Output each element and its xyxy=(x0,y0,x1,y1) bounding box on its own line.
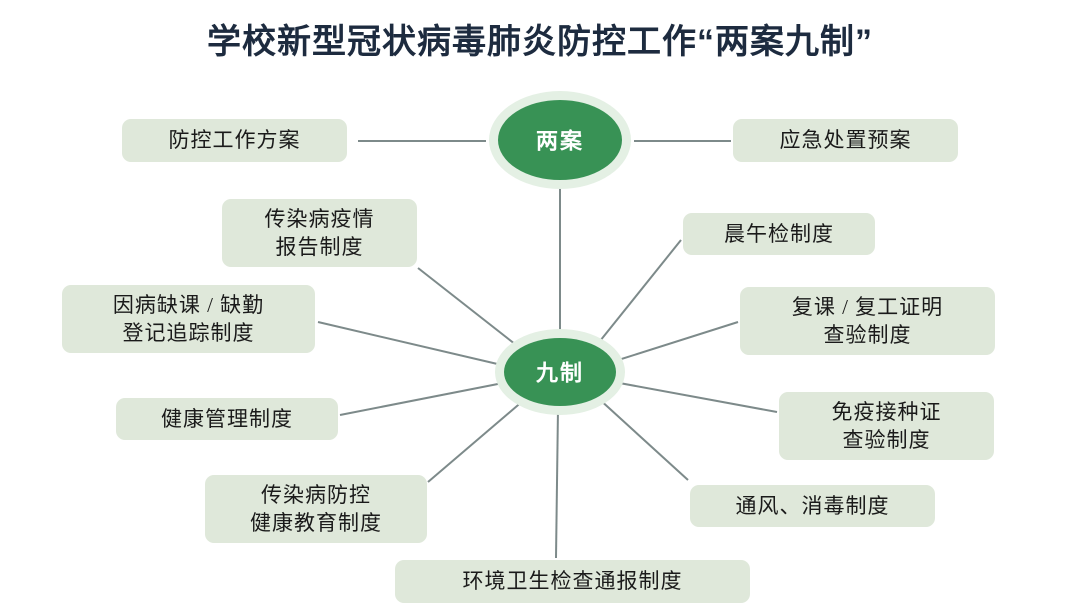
connector-line xyxy=(556,408,558,558)
connector-line xyxy=(614,382,777,412)
connector-line xyxy=(340,382,508,415)
radial-diagram: 两案九制 防控工作方案应急处置预案传染病疫情 报告制度因病缺课 / 缺勤 登记追… xyxy=(0,0,1080,611)
leaf-node-yingji-chuzhi-yuan[interactable]: 应急处置预案 xyxy=(733,119,958,162)
connector-line xyxy=(596,240,681,346)
leaf-node-huanjing-weisheng-tongbao[interactable]: 环境卫生检查通报制度 xyxy=(395,560,750,603)
leaf-node-mianyi-jiezhongzheng-chayan[interactable]: 免疫接种证 查验制度 xyxy=(779,392,994,460)
leaf-node-chuanranbing-yiqing-baogao[interactable]: 传染病疫情 报告制度 xyxy=(222,199,417,267)
connector-line xyxy=(598,398,688,480)
leaf-node-fuke-fugong-zhengming[interactable]: 复课 / 复工证明 查验制度 xyxy=(740,287,995,355)
hub-node-liangan[interactable]: 两案 xyxy=(489,91,631,189)
hub-node-jiuzhi[interactable]: 九制 xyxy=(495,329,625,415)
hub-label: 两案 xyxy=(536,129,584,154)
leaf-node-chuanranbing-fangkong-jiaoyu[interactable]: 传染病防控 健康教育制度 xyxy=(205,475,427,543)
leaf-node-tongfeng-xiaodu[interactable]: 通风、消毒制度 xyxy=(690,485,935,527)
leaf-node-fangkong-gongzuo-fangan[interactable]: 防控工作方案 xyxy=(122,119,347,162)
hub-label: 九制 xyxy=(535,361,584,386)
leaf-node-jiankang-guanli[interactable]: 健康管理制度 xyxy=(116,398,338,440)
connector-line xyxy=(318,322,506,366)
connector-line xyxy=(418,268,520,348)
connector-line xyxy=(428,400,524,482)
leaf-node-yinbing-quke-quqin[interactable]: 因病缺课 / 缺勤 登记追踪制度 xyxy=(62,285,315,353)
leaf-node-chenwujian[interactable]: 晨午检制度 xyxy=(683,213,875,255)
connector-line xyxy=(612,322,738,362)
